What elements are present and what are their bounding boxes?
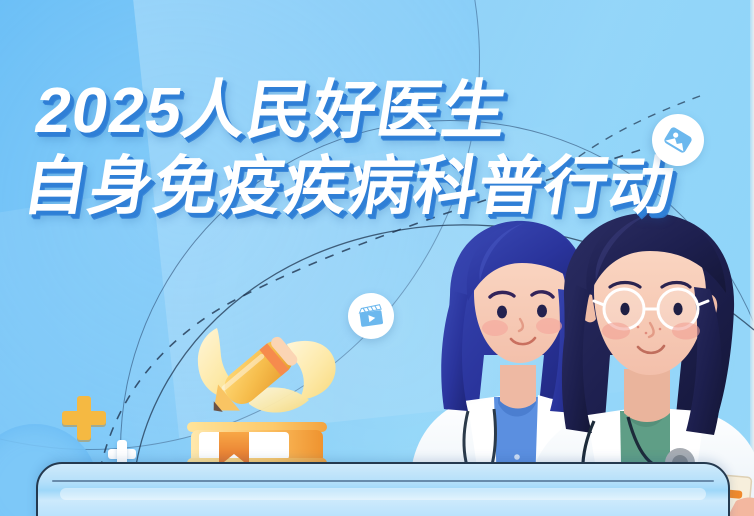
plus-icon-orange xyxy=(62,396,106,440)
title-line-2: 自身免疫疾病科普行动 xyxy=(19,154,679,218)
title-line-1: 2025人民好医生 xyxy=(31,78,691,142)
poster-title: 2025人民好医生 自身免疫疾病科普行动 xyxy=(19,78,691,218)
winged-pencil-and-book-illustration xyxy=(165,300,350,485)
poster-banner: 2025人民好医生 自身免疫疾病科普行动 xyxy=(0,0,754,516)
desk-edge-line xyxy=(52,480,714,482)
desk-panel xyxy=(36,462,730,516)
desk-highlight xyxy=(60,488,706,500)
